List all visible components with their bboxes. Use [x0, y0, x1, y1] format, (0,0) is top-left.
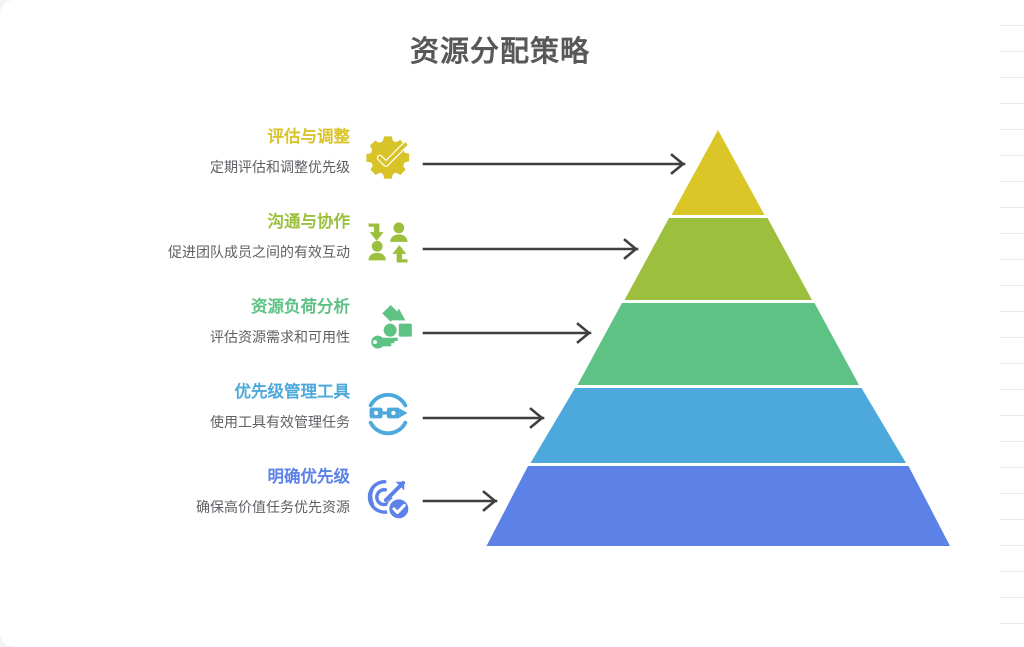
- list-item[interactable]: 评估与调整 定期评估和调整优先级: [0, 126, 420, 211]
- pyramid-layer-4[interactable]: [531, 388, 907, 463]
- target-check-icon: [362, 472, 414, 524]
- list-item-title: 明确优先级: [50, 466, 350, 488]
- shapes-key-icon: [362, 302, 414, 354]
- list-item-desc: 评估资源需求和可用性: [50, 326, 350, 348]
- list-item-text: 沟通与协作 促进团队成员之间的有效互动: [50, 211, 350, 263]
- process-cycle-icon: [362, 387, 414, 439]
- list-item-desc: 促进团队成员之间的有效互动: [50, 241, 350, 263]
- list-item-text: 评估与调整 定期评估和调整优先级: [50, 126, 350, 178]
- list-item-title: 优先级管理工具: [50, 381, 350, 403]
- slide-card: 资源分配策略: [0, 0, 1000, 647]
- list-item[interactable]: 明确优先级 确保高价值任务优先资源: [0, 466, 420, 551]
- diagram-canvas: 资源分配策略: [0, 0, 1024, 647]
- list-item-title: 沟通与协作: [50, 211, 350, 233]
- list-item-desc: 定期评估和调整优先级: [50, 156, 350, 178]
- people-exchange-icon: [362, 217, 414, 269]
- pyramid-layer-2[interactable]: [625, 218, 813, 300]
- list-item-title: 资源负荷分析: [50, 296, 350, 318]
- list-item[interactable]: 资源负荷分析 评估资源需求和可用性: [0, 296, 420, 381]
- list-item-text: 优先级管理工具 使用工具有效管理任务: [50, 381, 350, 433]
- list-item-text: 资源负荷分析 评估资源需求和可用性: [50, 296, 350, 348]
- gear-check-icon: [362, 132, 414, 184]
- list-item-text: 明确优先级 确保高价值任务优先资源: [50, 466, 350, 518]
- list-item-desc: 确保高价值任务优先资源: [50, 496, 350, 518]
- list-item-title: 评估与调整: [50, 126, 350, 148]
- pyramid-layer-3[interactable]: [578, 303, 860, 385]
- list-item[interactable]: 优先级管理工具 使用工具有效管理任务: [0, 381, 420, 466]
- list-item-desc: 使用工具有效管理任务: [50, 411, 350, 433]
- pyramid-layer-1[interactable]: [672, 130, 765, 215]
- pyramid-layer-5[interactable]: [487, 466, 951, 546]
- list-item[interactable]: 沟通与协作 促进团队成员之间的有效互动: [0, 211, 420, 296]
- strategy-list: 评估与调整 定期评估和调整优先级 沟通与协作: [0, 126, 420, 551]
